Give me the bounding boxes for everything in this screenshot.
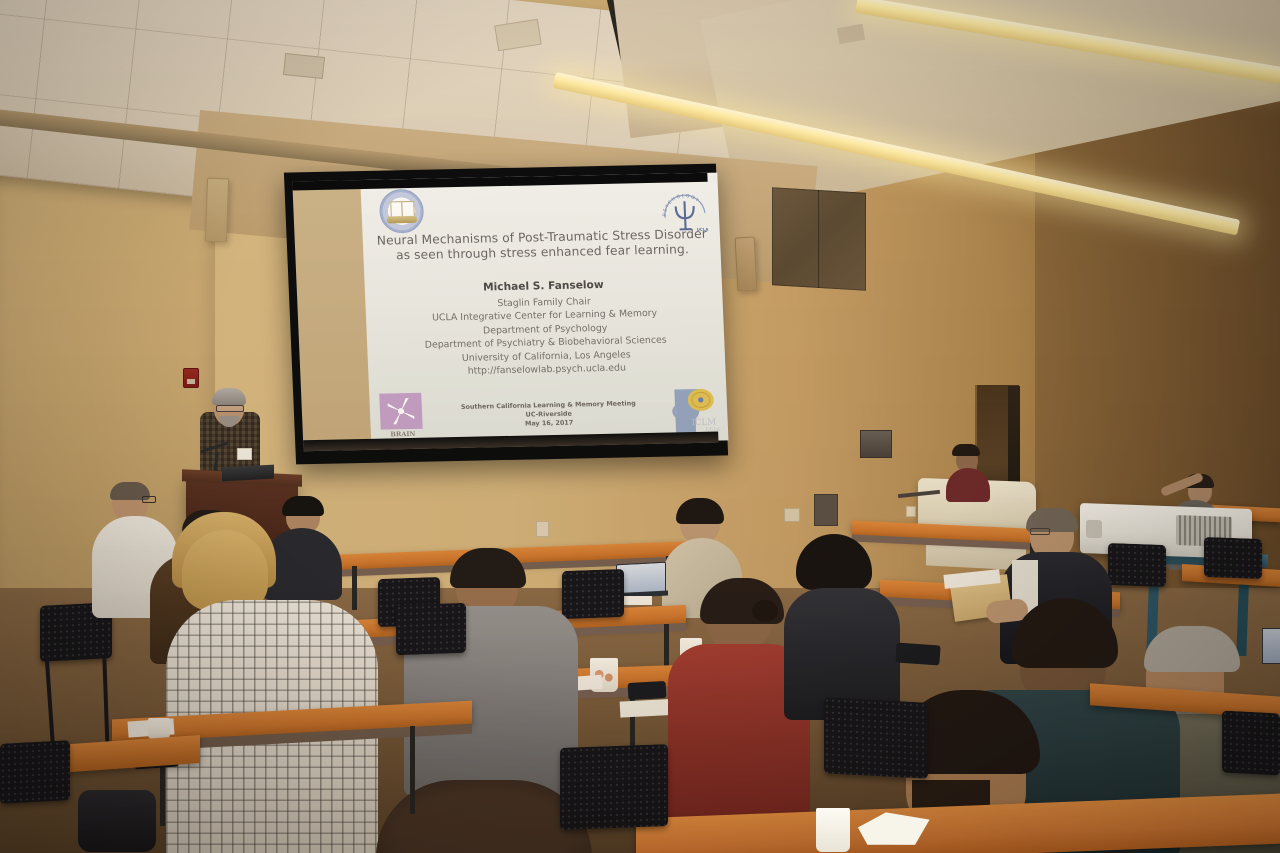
name-badge bbox=[237, 448, 252, 460]
fire-alarm-icon[interactable] bbox=[183, 368, 199, 388]
ceiling-air-vent bbox=[283, 53, 325, 79]
smartphone[interactable] bbox=[628, 681, 667, 700]
acoustic-wall-panel bbox=[772, 187, 866, 291]
wall-panel-box bbox=[814, 494, 838, 526]
chair[interactable] bbox=[1222, 710, 1280, 775]
hair-bun bbox=[752, 600, 778, 622]
lecture-hall-photo: PSYCHOLOGY UCLA Neural Mechanisms of Pos… bbox=[0, 0, 1280, 853]
slide-affiliations: Staglin Family Chair UCLA Integrative Ce… bbox=[365, 292, 725, 380]
glasses-icon bbox=[1030, 528, 1050, 535]
projection-screen: PSYCHOLOGY UCLA Neural Mechanisms of Pos… bbox=[284, 164, 728, 465]
wall-outlet-icon bbox=[784, 508, 800, 522]
backpack[interactable] bbox=[78, 790, 156, 852]
wall-outlet-icon bbox=[536, 521, 549, 537]
wall-outlet-icon bbox=[906, 506, 916, 517]
smartphone[interactable] bbox=[895, 642, 940, 665]
chair[interactable] bbox=[0, 740, 70, 804]
ucla-seal-icon bbox=[379, 189, 425, 234]
wall-speaker-icon bbox=[205, 178, 229, 243]
screen-surface: PSYCHOLOGY UCLA Neural Mechanisms of Pos… bbox=[292, 173, 718, 451]
table-leg bbox=[410, 726, 415, 814]
glasses-icon bbox=[142, 496, 156, 503]
projector-lens-icon bbox=[1086, 520, 1102, 539]
wall-mounted-box bbox=[860, 430, 892, 458]
presenter-laptop[interactable] bbox=[222, 465, 274, 482]
glasses-icon bbox=[216, 405, 244, 412]
svg-text:ICLM: ICLM bbox=[692, 418, 717, 429]
person-hair bbox=[952, 444, 980, 456]
wall-speaker-icon bbox=[735, 237, 758, 292]
chair[interactable] bbox=[396, 603, 466, 655]
slide-title: Neural Mechanisms of Post-Traumatic Stre… bbox=[371, 227, 714, 264]
presenter-hair bbox=[212, 388, 246, 405]
chair[interactable] bbox=[562, 569, 624, 619]
chair[interactable] bbox=[824, 697, 928, 778]
laptop-screen[interactable] bbox=[1262, 628, 1280, 664]
table-leg bbox=[352, 566, 357, 610]
svg-text:PSYCHOLOGY: PSYCHOLOGY bbox=[661, 193, 702, 217]
iclm-logo-icon: ICLM UCLA bbox=[660, 382, 724, 437]
chair[interactable] bbox=[560, 744, 668, 830]
chair[interactable] bbox=[1108, 543, 1166, 587]
coffee-cup[interactable] bbox=[816, 808, 850, 852]
person-head bbox=[182, 530, 268, 610]
person-hair bbox=[282, 496, 324, 516]
presentation-slide: PSYCHOLOGY UCLA Neural Mechanisms of Pos… bbox=[360, 173, 728, 448]
chair[interactable] bbox=[1204, 537, 1262, 579]
